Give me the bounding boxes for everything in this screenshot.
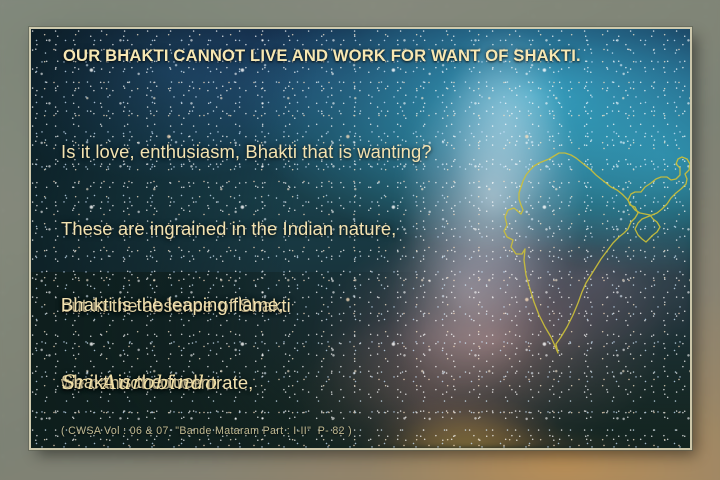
quote-line: Is it love, enthusiasm, Bhakti that is w… <box>61 139 432 165</box>
quote-line: If the fuel is scanty <box>61 446 306 448</box>
quote-card: OUR BHAKTI CANNOT LIVE AND WORK FOR WANT… <box>0 0 720 480</box>
author-signature: Sri Aurobindo <box>62 370 218 394</box>
quote-line: These are ingrained in the Indian nature… <box>61 216 432 242</box>
poster-content: OUR BHAKTI CANNOT LIVE AND WORK FOR WANT… <box>31 29 690 448</box>
quote-stanza-2: Bhakti is the leaping flame, Shakti is t… <box>61 241 306 448</box>
poster-title: OUR BHAKTI CANNOT LIVE AND WORK FOR WANT… <box>63 46 663 66</box>
poster-panel: OUR BHAKTI CANNOT LIVE AND WORK FOR WANT… <box>31 29 690 448</box>
source-citation: ( CWSA Vol : 06 & 07 "Bande Mataram Part… <box>61 425 352 437</box>
quote-line: Bhakti is the leaping flame, <box>61 292 306 318</box>
